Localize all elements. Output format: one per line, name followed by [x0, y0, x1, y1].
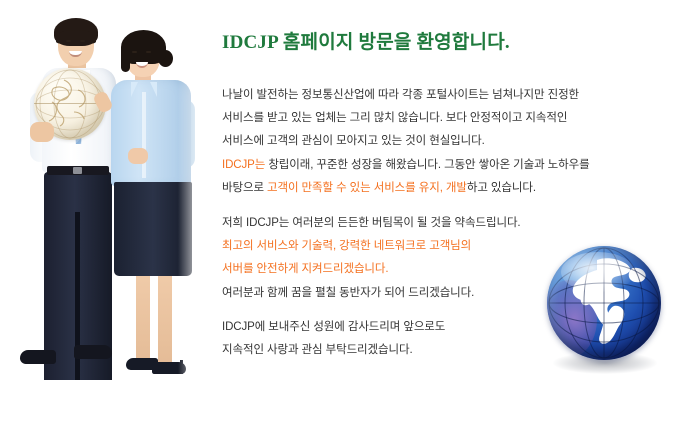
- body-text: 여러분과 함께 꿈을 펼칠 동반자가 되어 드리겠습니다.: [222, 287, 474, 299]
- text-line: 나날이 발전하는 정보통신산업에 따라 각종 포털사이트는 넘쳐나지만 진정한: [222, 84, 678, 107]
- text-line: IDCJP는 창립이래, 꾸준한 성장을 해왔습니다. 그동안 쌓아온 기술과 …: [222, 154, 678, 177]
- body-text: IDCJP에 보내주신 성원에 감사드리며 앞으로도: [222, 321, 445, 333]
- body-text: 지속적인 사랑과 관심 부탁드리겠습니다.: [222, 344, 413, 356]
- text-line: 저희 IDCJP는 여러분의 든든한 버팀목이 될 것을 약속드립니다.: [222, 212, 678, 235]
- text-line: 서버를 안전하게 지켜드리겠습니다.: [222, 258, 678, 281]
- body-text: 저희 IDCJP는 여러분의 든든한 버팀목이 될 것을 약속드립니다.: [222, 217, 521, 229]
- accent-text: 최고의 서비스와 기술력, 강력한 네트워크로 고객님의: [222, 240, 471, 252]
- body-text: 나날이 발전하는 정보통신산업에 따라 각종 포털사이트는 넘쳐나지만 진정한: [222, 89, 579, 101]
- woman-shirt-placket: [142, 92, 146, 178]
- paragraph-3: 저희 IDCJP는 여러분의 든든한 버팀목이 될 것을 약속드립니다.최고의 …: [222, 212, 678, 281]
- accent-text: IDCJP는: [222, 159, 265, 171]
- text-line: 최고의 서비스와 기술력, 강력한 네트워크로 고객님의: [222, 235, 678, 258]
- man-hand-holding-globe: [30, 122, 54, 142]
- people-photo-alt: 두 명의 비즈니스 직원 — 흰 셔츠와 파란 넥타이 차림의 남성이 앤티크 …: [0, 0, 1, 1]
- text-line: 서비스에 고객의 관심이 모아지고 있는 것이 현실입니다.: [222, 130, 678, 153]
- man-belt-buckle: [73, 167, 82, 174]
- man-shoe-right: [74, 345, 112, 359]
- woman-hand: [128, 148, 148, 164]
- woman-eye-left: [132, 51, 137, 53]
- paragraph-5: IDCJP에 보내주신 성원에 감사드리며 앞으로도지속적인 사랑과 관심 부탁…: [222, 316, 678, 362]
- man-shoe-left: [20, 350, 56, 364]
- man-hair: [54, 18, 98, 46]
- paragraph-2: IDCJP는 창립이래, 꾸준한 성장을 해왔습니다. 그동안 쌓아온 기술과 …: [222, 154, 678, 200]
- text-line: 바탕으로 고객이 만족할 수 있는 서비스를 유지, 개발하고 있습니다.: [222, 177, 678, 200]
- woman-collar-left: [131, 82, 138, 97]
- text-line: 서비스를 받고 있는 업체는 그리 많치 않습니다. 보다 안정적이고 지속적인: [222, 107, 678, 130]
- body-text: 바탕으로: [222, 182, 267, 194]
- text-line: 여러분과 함께 꿈을 펼칠 동반자가 되어 드리겠습니다.: [222, 282, 678, 305]
- man-eye-left: [66, 40, 71, 42]
- body-text: 서비스에 고객의 관심이 모아지고 있는 것이 현실입니다.: [222, 135, 485, 147]
- body-text: 서비스를 받고 있는 업체는 그리 많치 않습니다. 보다 안정적이고 지속적인: [222, 112, 567, 124]
- paragraph-4: 여러분과 함께 꿈을 펼칠 동반자가 되어 드리겠습니다.: [222, 282, 678, 305]
- paragraph-1: 나날이 발전하는 정보통신산업에 따라 각종 포털사이트는 넘쳐나지만 진정한서…: [222, 84, 678, 153]
- text-line: IDCJP에 보내주신 성원에 감사드리며 앞으로도: [222, 316, 678, 339]
- woman-leg-right: [158, 272, 172, 368]
- welcome-page: 두 명의 비즈니스 직원 — 흰 셔츠와 파란 넥타이 차림의 남성이 앤티크 …: [0, 0, 680, 431]
- woman-collar-right: [150, 82, 157, 97]
- photo-bottom-fade: [0, 391, 212, 431]
- text-line: 지속적인 사랑과 관심 부탁드리겠습니다.: [222, 339, 678, 362]
- content-column: IDCJP 홈페이지 방문을 환영합니다. 나날이 발전하는 정보통신산업에 따…: [218, 0, 680, 431]
- accent-text: 서버를 안전하게 지켜드리겠습니다.: [222, 263, 388, 275]
- man-eye-right: [80, 40, 85, 42]
- woman-hair-side: [121, 46, 130, 72]
- woman-eye-right: [146, 51, 151, 53]
- body-text: 창립이래, 꾸준한 성장을 해왔습니다. 그동안 쌓아온 기술과 노하우를: [265, 159, 589, 171]
- body-text: 하고 있습니다.: [467, 182, 536, 194]
- accent-text: 고객이 만족할 수 있는 서비스를 유지, 개발: [267, 182, 467, 194]
- photo-right-fade: [178, 0, 212, 431]
- page-title: IDCJP 홈페이지 방문을 환영합니다.: [222, 27, 510, 54]
- woman-leg-left: [136, 272, 150, 368]
- people-photo: 두 명의 비즈니스 직원 — 흰 셔츠와 파란 넥타이 차림의 남성이 앤티크 …: [0, 0, 212, 431]
